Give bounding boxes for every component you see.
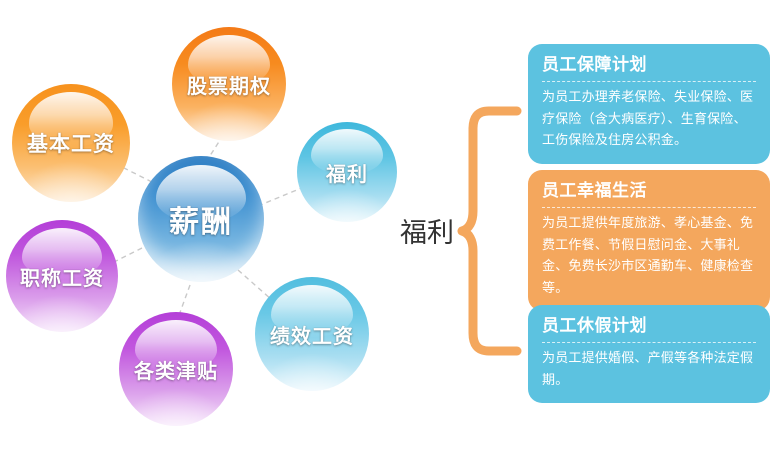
card-body: 为员工提供年度旅游、孝心基金、免费工作餐、节假日慰问金、大事礼金、免费长沙市区通… bbox=[542, 213, 756, 299]
card-divider bbox=[542, 207, 756, 208]
bubble-compensation[interactable]: 薪酬 bbox=[138, 156, 264, 282]
compensation-benefits-diagram: 薪酬 基本工资 股票期权 福利 绩效工资 职称工资 各类津贴 福利 员工保障计划… bbox=[0, 0, 770, 453]
benefit-card-employee-leave[interactable]: 员工休假计划 为员工提供婚假、产假等各种法定假期。 bbox=[528, 305, 770, 403]
bubble-label-compensation: 薪酬 bbox=[169, 197, 233, 241]
card-body: 为员工提供婚假、产假等各种法定假期。 bbox=[542, 348, 756, 391]
benefit-card-employee-wellbeing[interactable]: 员工幸福生活 为员工提供年度旅游、孝心基金、免费工作餐、节假日慰问金、大事礼金、… bbox=[528, 170, 770, 311]
curly-brace-icon bbox=[455, 105, 525, 365]
bubble-label-basic-salary: 基本工资 bbox=[27, 128, 115, 158]
bubble-label-benefits: 福利 bbox=[326, 158, 368, 187]
card-body: 为员工办理养老保险、失业保险、医疗保险（含大病医疗）、生育保险、工伤保险及住房公… bbox=[542, 87, 756, 151]
bubble-allowances[interactable]: 各类津贴 bbox=[119, 312, 233, 426]
card-title: 员工保障计划 bbox=[542, 55, 756, 75]
connector-line-benefit bbox=[258, 187, 304, 206]
bubble-label-stock-options: 股票期权 bbox=[187, 70, 271, 99]
benefit-card-employee-security[interactable]: 员工保障计划 为员工办理养老保险、失业保险、医疗保险（含大病医疗）、生育保险、工… bbox=[528, 44, 770, 164]
bubble-stock-options[interactable]: 股票期权 bbox=[172, 27, 286, 141]
connector-line-perf bbox=[238, 270, 272, 300]
bubble-benefits[interactable]: 福利 bbox=[297, 122, 397, 222]
card-divider bbox=[542, 342, 756, 343]
bubble-title-salary[interactable]: 职称工资 bbox=[6, 220, 118, 332]
bubble-basic-salary[interactable]: 基本工资 bbox=[12, 84, 130, 202]
brace-label-benefits: 福利 bbox=[400, 211, 454, 250]
card-title: 员工休假计划 bbox=[542, 316, 756, 336]
bubble-label-performance-pay: 绩效工资 bbox=[270, 320, 354, 349]
card-divider bbox=[542, 81, 756, 82]
bubble-label-allowances: 各类津贴 bbox=[134, 355, 218, 384]
card-title: 员工幸福生活 bbox=[542, 181, 756, 201]
bubble-performance-pay[interactable]: 绩效工资 bbox=[255, 277, 369, 391]
bubble-label-title-salary: 职称工资 bbox=[20, 262, 104, 291]
